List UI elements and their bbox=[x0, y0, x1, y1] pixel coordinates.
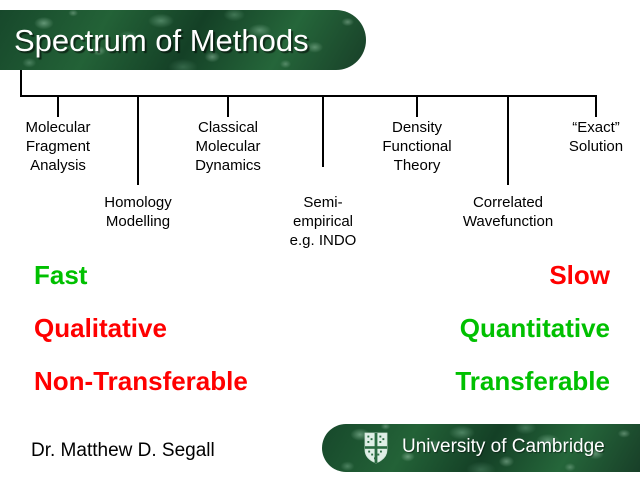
tree-node-line: Modelling bbox=[104, 212, 172, 231]
tree-tick-exact-solution bbox=[595, 95, 597, 117]
comparison-right-label: Quantitative bbox=[460, 315, 610, 341]
tree-node-correlated-wavefunction: CorrelatedWavefunction bbox=[463, 193, 553, 231]
tree-node-line: Solution bbox=[569, 137, 623, 156]
tree-node-line: Semi- bbox=[290, 193, 357, 212]
tree-node-line: Theory bbox=[382, 156, 451, 175]
tree-tick-density-functional-theory bbox=[416, 95, 418, 117]
slide-canvas: Spectrum of Methods MolecularFragmentAna… bbox=[0, 0, 640, 480]
tree-node-line: “Exact” bbox=[569, 118, 623, 137]
comparison-left-label: Non-Transferable bbox=[34, 368, 248, 394]
tree-stem-horizontal bbox=[20, 95, 597, 97]
tree-node-semi-empirical: Semi-empiricale.g. INDO bbox=[290, 193, 357, 250]
tree-node-line: empirical bbox=[290, 212, 357, 231]
author-name: Dr. Matthew D. Segall bbox=[31, 440, 215, 462]
tree-tick-homology-modelling bbox=[137, 95, 139, 185]
footer-bar: University of Cambridge bbox=[322, 424, 640, 472]
tree-node-line: Molecular bbox=[25, 118, 90, 137]
tree-tick-semi-empirical bbox=[322, 95, 324, 167]
tree-node-line: Analysis bbox=[25, 156, 90, 175]
tree-tick-classical-molecular-dynamics bbox=[227, 95, 229, 117]
tree-node-line: Functional bbox=[382, 137, 451, 156]
tree-node-classical-molecular-dynamics: ClassicalMolecularDynamics bbox=[195, 118, 261, 175]
tree-node-homology-modelling: HomologyModelling bbox=[104, 193, 172, 231]
page-title: Spectrum of Methods bbox=[14, 23, 309, 59]
tree-node-molecular-fragment-analysis: MolecularFragmentAnalysis bbox=[25, 118, 90, 175]
tree-tick-molecular-fragment-analysis bbox=[57, 95, 59, 117]
tree-tick-correlated-wavefunction bbox=[507, 95, 509, 185]
tree-node-line: Density bbox=[382, 118, 451, 137]
comparison-left-label: Qualitative bbox=[34, 315, 167, 341]
tree-node-line: Wavefunction bbox=[463, 212, 553, 231]
comparison-left-label: Fast bbox=[34, 262, 87, 288]
tree-node-line: Fragment bbox=[25, 137, 90, 156]
tree-node-line: Dynamics bbox=[195, 156, 261, 175]
tree-node-exact-solution: “Exact”Solution bbox=[569, 118, 623, 156]
tree-node-line: e.g. INDO bbox=[290, 231, 357, 250]
tree-node-line: Classical bbox=[195, 118, 261, 137]
tree-node-density-functional-theory: DensityFunctionalTheory bbox=[382, 118, 451, 175]
tree-stem-vertical bbox=[20, 70, 22, 96]
tree-node-line: Homology bbox=[104, 193, 172, 212]
cambridge-crest-icon bbox=[364, 432, 388, 464]
tree-node-line: Molecular bbox=[195, 137, 261, 156]
comparison-right-label: Transferable bbox=[455, 368, 610, 394]
title-bar: Spectrum of Methods bbox=[0, 10, 366, 70]
comparison-right-label: Slow bbox=[549, 262, 610, 288]
tree-node-line: Correlated bbox=[463, 193, 553, 212]
institution-name: University of Cambridge bbox=[402, 436, 605, 458]
